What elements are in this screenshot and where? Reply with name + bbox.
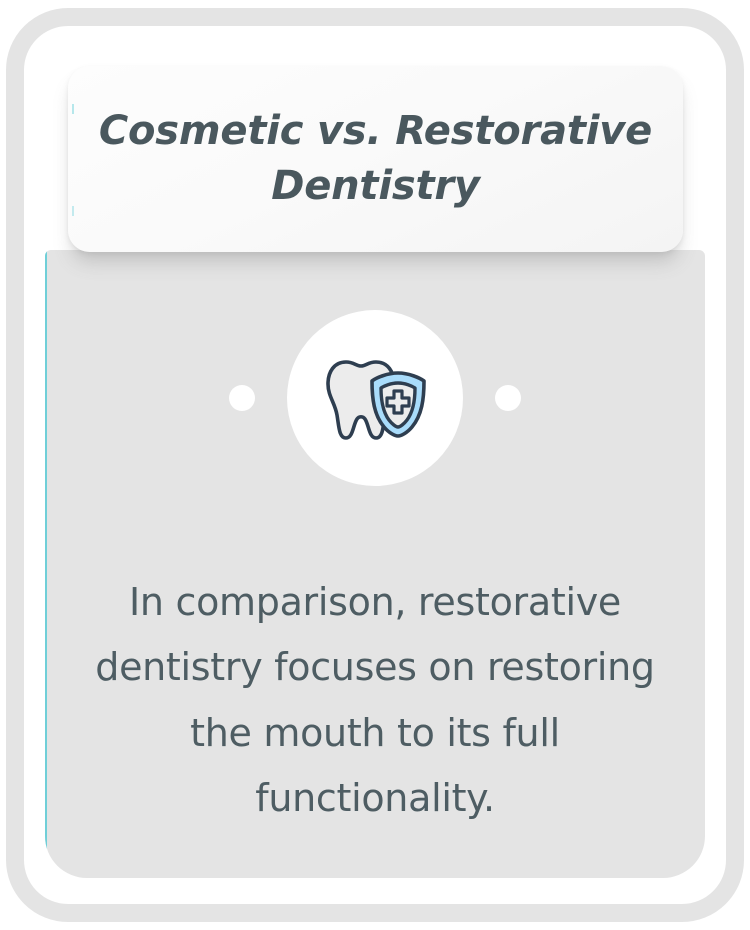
tooth-shield-icon <box>316 339 434 457</box>
decorative-dot-left <box>229 385 255 411</box>
accent-mark-bottom-left <box>72 206 74 216</box>
icon-row <box>45 310 705 486</box>
content-card: In comparison, restorative dentistry foc… <box>45 250 705 878</box>
decorative-dot-right <box>495 385 521 411</box>
card-body-text: In comparison, restorative dentistry foc… <box>79 570 671 831</box>
icon-badge <box>287 310 463 486</box>
title-card: Cosmetic vs. Restorative Dentistry <box>68 66 683 252</box>
slide-root: In comparison, restorative dentistry foc… <box>0 0 750 930</box>
accent-mark-top-left <box>72 104 74 114</box>
card-title: Cosmetic vs. Restorative Dentistry <box>90 104 661 214</box>
